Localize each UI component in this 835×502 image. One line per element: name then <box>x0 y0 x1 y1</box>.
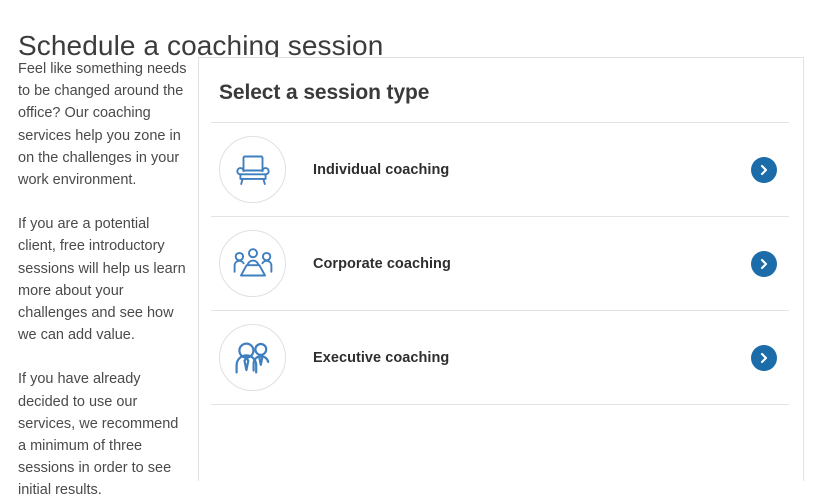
session-type-card: Select a session type Individual <box>198 57 804 481</box>
conference-table-people-icon <box>219 230 286 297</box>
coaching-session-page: Schedule a coaching session Feel like so… <box>0 0 835 481</box>
session-option-individual-coaching[interactable]: Individual coaching <box>199 123 803 216</box>
divider-3 <box>211 404 789 405</box>
intro-column: Feel like something needs to be changed … <box>18 58 188 502</box>
intro-paragraph-2: If you are a potential client, free intr… <box>18 213 188 346</box>
session-option-label: Executive coaching <box>313 350 751 366</box>
session-option-executive-coaching[interactable]: Executive coaching <box>199 311 803 404</box>
card-title: Select a session type <box>199 58 803 108</box>
intro-paragraph-3: If you have already decided to use our s… <box>18 368 188 501</box>
chevron-right-icon-executive-coaching[interactable] <box>751 345 777 371</box>
intro-paragraph-1: Feel like something needs to be changed … <box>18 58 188 191</box>
session-option-label: Corporate coaching <box>313 256 751 272</box>
chevron-right-icon-individual-coaching[interactable] <box>751 157 777 183</box>
session-type-list: Individual coaching <box>199 122 803 405</box>
session-option-label: Individual coaching <box>313 162 751 178</box>
two-business-people-icon <box>219 324 286 391</box>
session-option-corporate-coaching[interactable]: Corporate coaching <box>199 217 803 310</box>
chevron-right-icon-corporate-coaching[interactable] <box>751 251 777 277</box>
armchair-icon <box>219 136 286 203</box>
